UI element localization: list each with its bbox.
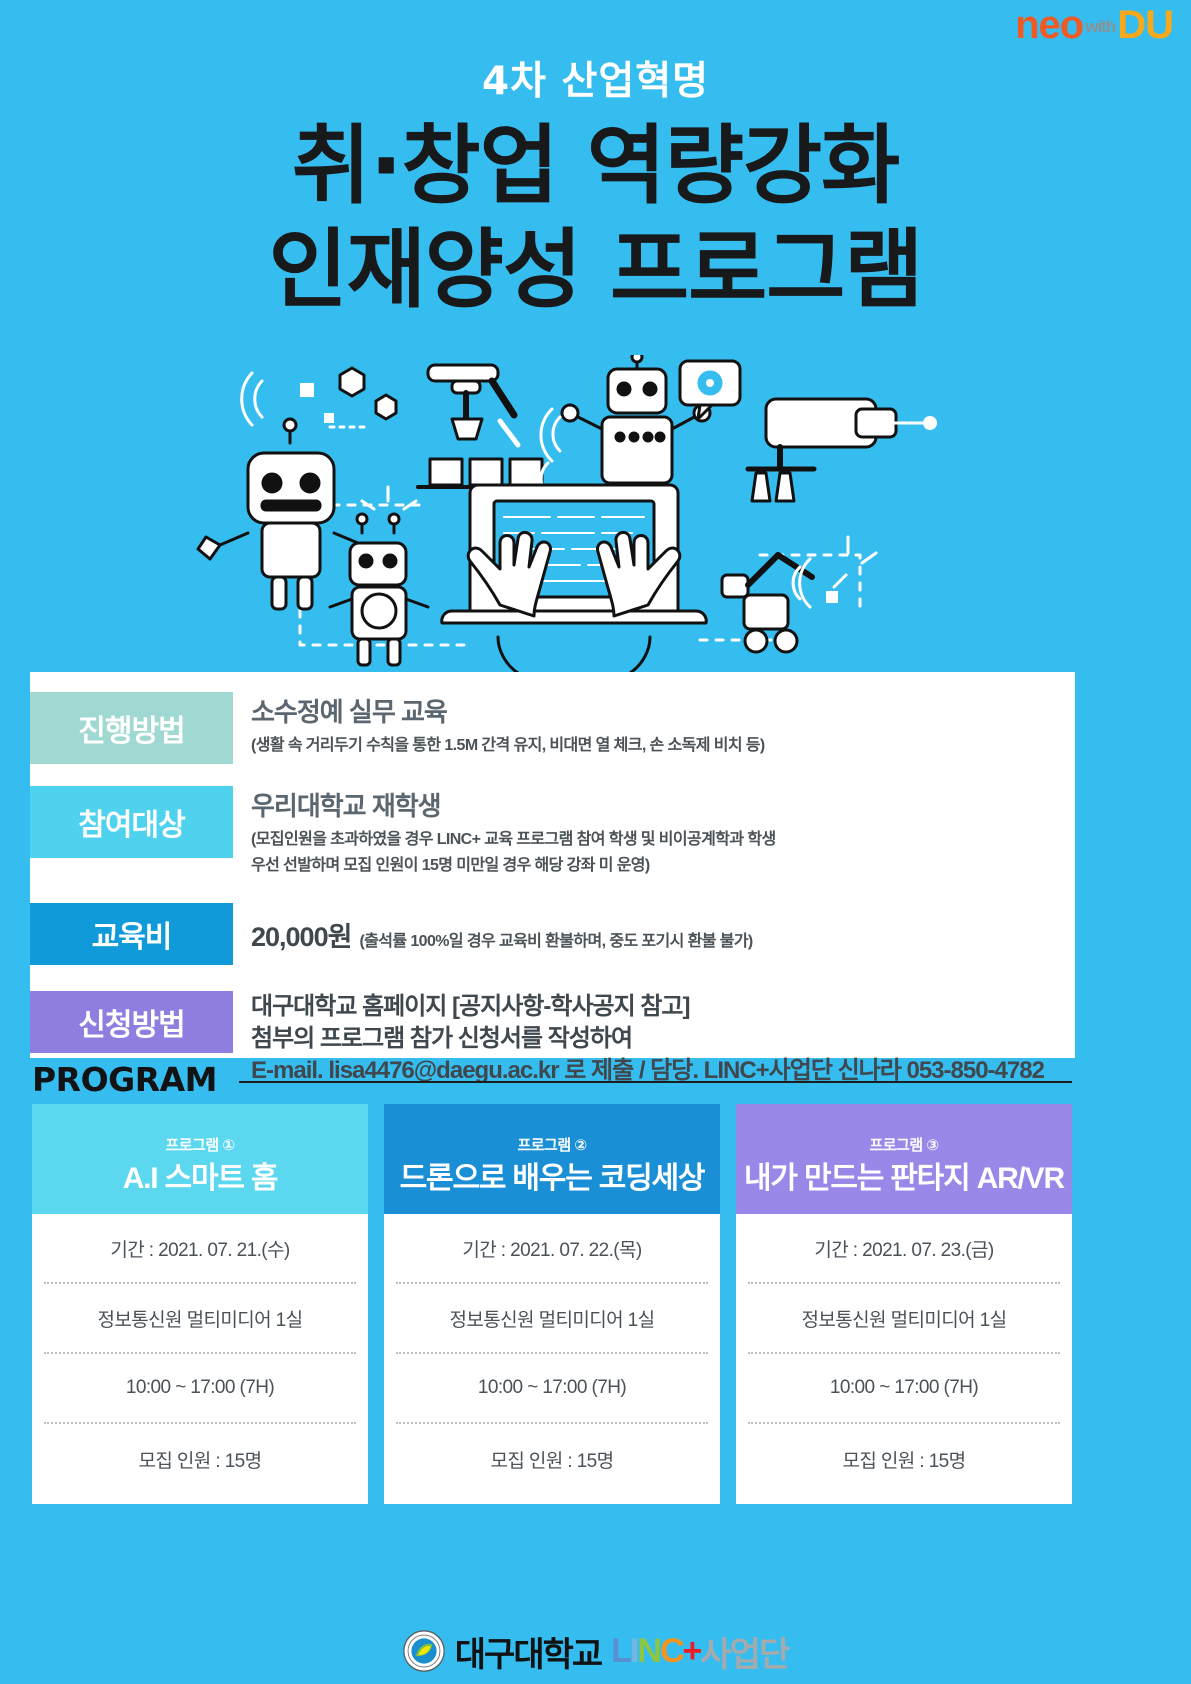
logo-neo-text: neo (1015, 6, 1083, 44)
program-card-body: 기간 : 2021. 07. 23.(금) 정보통신원 멀티미디어 1실 10:… (736, 1214, 1072, 1504)
program-card-period: 기간 : 2021. 07. 22.(목) (396, 1214, 708, 1284)
program-card-header: 프로그램 ② 드론으로 배우는 코딩세상 (384, 1104, 720, 1214)
program-card-index: 프로그램 ① (165, 1134, 234, 1155)
footer-university-name: 대구대학교 (455, 1627, 601, 1676)
robot-technology-illustration (0, 355, 1191, 675)
apply-line-1: 대구대학교 홈페이지 [공지사항-학사공지 참고] (251, 991, 1044, 1023)
conveyor-boxes (418, 459, 560, 487)
daegu-university-emblem-icon (403, 1630, 445, 1672)
program-section-heading: PROGRAM (32, 1060, 1072, 1099)
footer-logo-bar: 대구대학교 L I N C + 사업단 (0, 1618, 1191, 1684)
program-card-header: 프로그램 ① A.I 스마트 홈 (32, 1104, 368, 1214)
linc-letter-l: L (611, 1632, 630, 1671)
info-head-target: 우리대학교 재학생 (251, 790, 776, 823)
linc-letter-n: N (637, 1632, 660, 1671)
info-head-method: 소수정예 실무 교육 (251, 696, 765, 729)
info-note-method: (생활 속 거리두기 수칙을 통한 1.5M 간격 유지, 비대면 열 체크, … (251, 734, 765, 759)
linc-plus-sign: + (683, 1632, 701, 1671)
info-label-apply: 신청방법 (30, 991, 233, 1053)
program-card-title: 드론으로 배우는 코딩세상 (400, 1161, 705, 1196)
program-card-index: 프로그램 ② (517, 1134, 586, 1155)
info-row-fee: 교육비 20,000원 (출석률 100%일 경우 교육비 환불하며, 중도 포… (30, 903, 1075, 965)
info-label-fee: 교육비 (30, 903, 233, 965)
linc-suffix-text: 사업단 (700, 1627, 788, 1676)
logo-du-text: DU (1117, 6, 1173, 44)
program-card[interactable]: 프로그램 ① A.I 스마트 홈 기간 : 2021. 07. 21.(수) 정… (32, 1104, 368, 1504)
program-card-period: 기간 : 2021. 07. 21.(수) (44, 1214, 356, 1284)
program-card-body: 기간 : 2021. 07. 22.(목) 정보통신원 멀티미디어 1실 10:… (384, 1214, 720, 1504)
program-card-list: 프로그램 ① A.I 스마트 홈 기간 : 2021. 07. 21.(수) 정… (32, 1104, 1072, 1504)
program-card-place: 정보통신원 멀티미디어 1실 (44, 1284, 356, 1354)
info-body-fee: 20,000원 (출석률 100%일 경우 교육비 환불하며, 중도 포기시 환… (233, 915, 753, 954)
program-card-title: A.I 스마트 홈 (123, 1161, 278, 1196)
poster-title-line1: 취·창업 역량강화 (0, 121, 1191, 211)
footer-linc-logo: L I N C + 사업단 (611, 1627, 788, 1676)
program-card[interactable]: 프로그램 ③ 내가 만드는 판타지 AR/VR 기간 : 2021. 07. 2… (736, 1104, 1072, 1504)
program-heading-divider (239, 1081, 1072, 1083)
info-row-target: 참여대상 우리대학교 재학생 (모집인원을 초과하였을 경우 LINC+ 교육 … (30, 786, 1075, 879)
poster-title-line2: 인재양성 프로그램 (0, 225, 1191, 315)
info-note-target-line1: (모집인원을 초과하였을 경우 LINC+ 교육 프로그램 참여 학생 및 비이… (251, 828, 776, 853)
program-card-period: 기간 : 2021. 07. 23.(금) (748, 1214, 1060, 1284)
info-body-target: 우리대학교 재학생 (모집인원을 초과하였을 경우 LINC+ 교육 프로그램 … (233, 786, 776, 879)
neo-with-du-logo: neo with DU (1015, 6, 1173, 44)
gear-decorations (300, 368, 396, 427)
info-label-target: 참여대상 (30, 786, 233, 858)
info-label-method: 진행방법 (30, 692, 233, 764)
info-row-method: 진행방법 소수정예 실무 교육 (생활 속 거리두기 수칙을 통한 1.5M 간… (30, 692, 1075, 764)
fee-note: (출석률 100%일 경우 교육비 환불하며, 중도 포기시 환불 불가) (359, 927, 752, 951)
linc-letter-i: I (630, 1632, 637, 1671)
program-card-time: 10:00 ~ 17:00 (7H) (748, 1354, 1060, 1424)
poster-title-block: 4차 산업혁명 취·창업 역량강화 인재양성 프로그램 (0, 62, 1191, 316)
program-card-index: 프로그램 ③ (869, 1134, 938, 1155)
info-panel: 진행방법 소수정예 실무 교육 (생활 속 거리두기 수칙을 통한 1.5M 간… (30, 672, 1075, 1058)
program-card-capacity: 모집 인원 : 15명 (748, 1424, 1060, 1494)
program-heading-label: PROGRAM (32, 1060, 217, 1099)
program-card-place: 정보통신원 멀티미디어 1실 (748, 1284, 1060, 1354)
program-card-time: 10:00 ~ 17:00 (7H) (396, 1354, 708, 1424)
linc-letter-c: C (660, 1632, 683, 1671)
program-card-title: 내가 만드는 판타지 AR/VR (744, 1161, 1064, 1196)
apply-line-2: 첨부의 프로그램 참가 신청서를 작성하여 (251, 1023, 1044, 1055)
info-note-target-line2: 우선 선발하며 모집 인원이 15명 미만일 경우 해당 강좌 미 운영) (251, 854, 776, 879)
poster-subtitle: 4차 산업혁명 (0, 62, 1191, 101)
logo-with-text: with (1085, 18, 1115, 44)
program-card-body: 기간 : 2021. 07. 21.(수) 정보통신원 멀티미디어 1실 10:… (32, 1214, 368, 1504)
laptop-with-hands (442, 485, 706, 673)
robotic-arm-top (428, 365, 518, 445)
program-card-capacity: 모집 인원 : 15명 (396, 1424, 708, 1494)
program-card-header: 프로그램 ③ 내가 만드는 판타지 AR/VR (736, 1104, 1072, 1214)
fee-amount: 20,000원 (251, 915, 351, 954)
industrial-arm-right (748, 399, 937, 501)
left-robot (198, 419, 358, 609)
program-card[interactable]: 프로그램 ② 드론으로 배우는 코딩세상 기간 : 2021. 07. 22.(… (384, 1104, 720, 1504)
info-body-method: 소수정예 실무 교육 (생활 속 거리두기 수칙을 통한 1.5M 간격 유지,… (233, 692, 765, 758)
program-card-capacity: 모집 인원 : 15명 (44, 1424, 356, 1494)
program-card-place: 정보통신원 멀티미디어 1실 (396, 1284, 708, 1354)
program-card-time: 10:00 ~ 17:00 (7H) (44, 1354, 356, 1424)
